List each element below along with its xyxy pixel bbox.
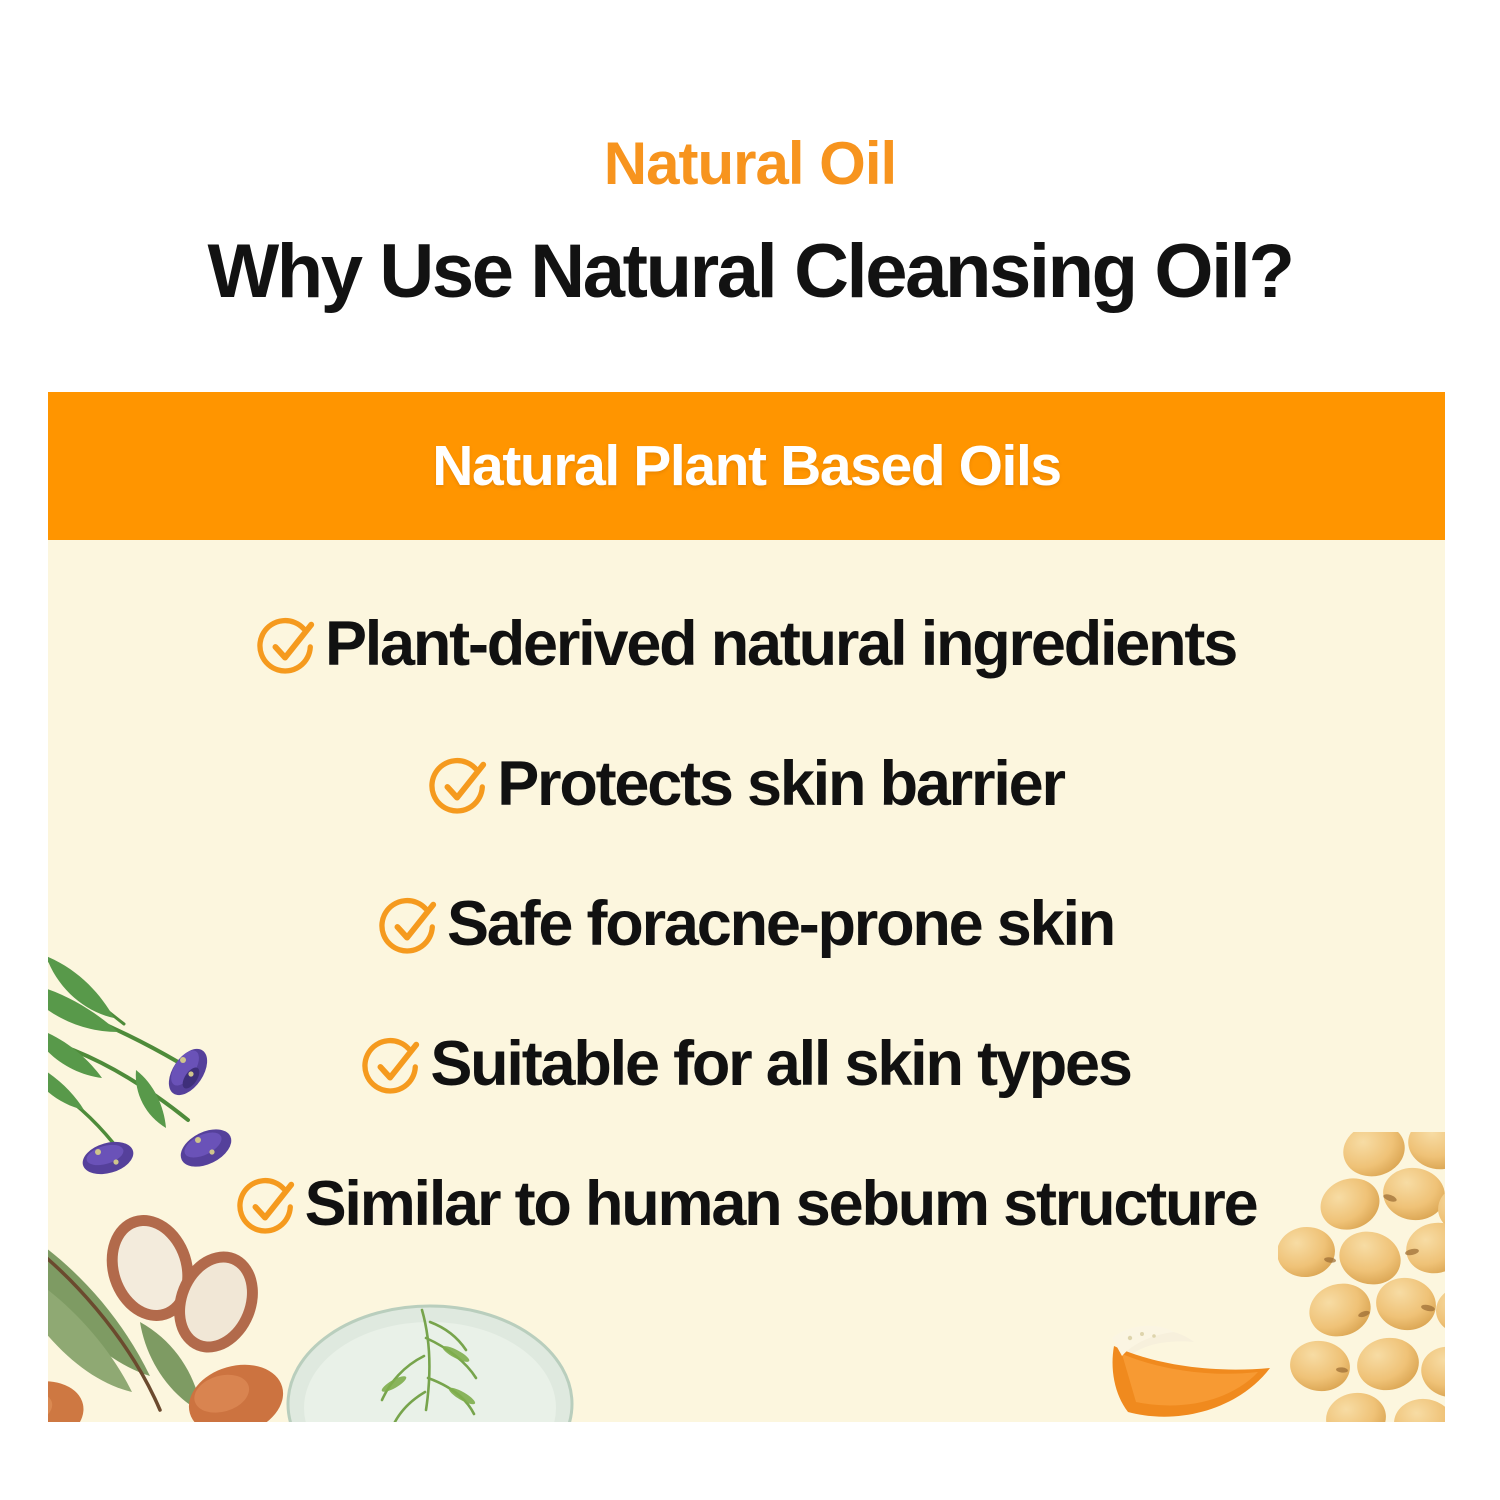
list-item-label: Protects skin barrier: [497, 753, 1064, 816]
page-title: Why Use Natural Cleansing Oil?: [0, 232, 1500, 313]
check-circle-icon: [429, 755, 491, 817]
benefits-list: Plant-derived natural ingredients Protec…: [48, 540, 1445, 1422]
check-circle-icon: [362, 1035, 424, 1097]
list-item-label: Plant-derived natural ingredients: [325, 613, 1236, 676]
list-item-label: Safe foracne-prone skin: [447, 893, 1114, 956]
list-item: Plant-derived natural ingredients: [257, 592, 1236, 696]
list-item-label: Similar to human sebum structure: [305, 1173, 1257, 1236]
list-item: Safe foracne-prone skin: [379, 872, 1114, 976]
check-circle-icon: [237, 1175, 299, 1237]
poster-canvas: Natural Oil Why Use Natural Cleansing Oi…: [0, 0, 1500, 1500]
list-item: Similar to human sebum structure: [237, 1152, 1257, 1256]
list-item-label: Suitable for all skin types: [430, 1033, 1130, 1096]
panel-header: Natural Plant Based Oils: [48, 392, 1445, 540]
list-item: Protects skin barrier: [429, 732, 1064, 836]
check-circle-icon: [257, 615, 319, 677]
list-item: Suitable for all skin types: [362, 1012, 1130, 1116]
panel-header-title: Natural Plant Based Oils: [432, 433, 1060, 499]
benefits-panel: Natural Plant Based Oils: [48, 392, 1445, 1422]
eyebrow-title: Natural Oil: [0, 132, 1500, 195]
check-circle-icon: [379, 895, 441, 957]
